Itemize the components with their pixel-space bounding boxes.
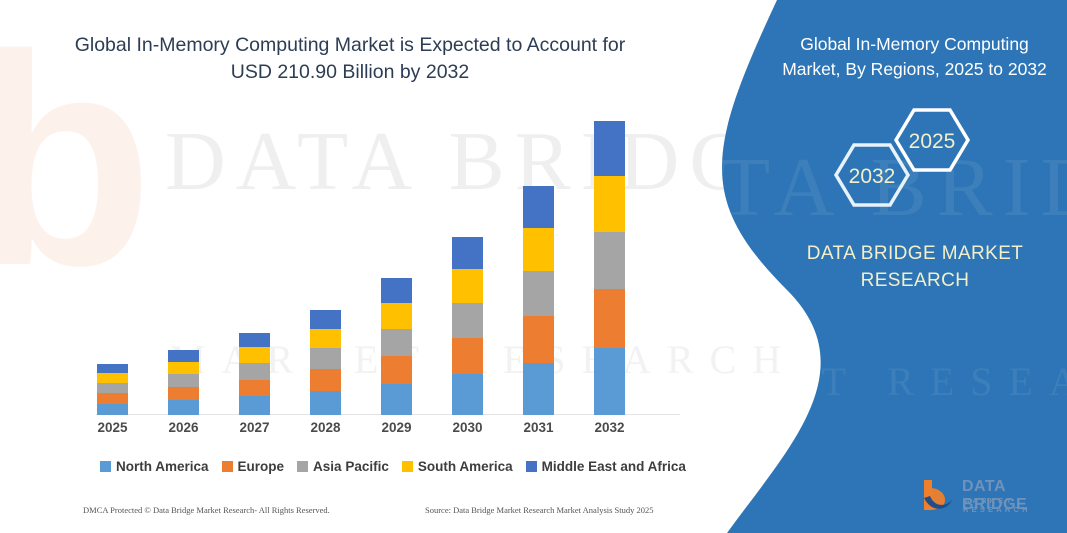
bar-segment-asia-pacific <box>310 348 341 369</box>
x-axis-labels: 20252026202720282029203020312032 <box>80 420 680 442</box>
legend-label: South America <box>418 459 513 474</box>
bar-segment-middle-east-and-africa <box>168 350 199 361</box>
bar-segment-north-america <box>452 374 483 415</box>
bar-segment-europe <box>594 289 625 348</box>
legend-swatch-icon <box>222 461 233 472</box>
bar-segment-asia-pacific <box>381 329 412 356</box>
bar-segment-north-america <box>594 348 625 415</box>
bar-group <box>594 121 625 415</box>
bar-segment-asia-pacific <box>523 271 554 316</box>
bar-segment-north-america <box>168 400 199 415</box>
legend-item[interactable]: Asia Pacific <box>297 459 389 474</box>
bar-segment-europe <box>523 316 554 363</box>
svg-text:MARKET RESEARCH: MARKET RESEARCH <box>667 359 1067 404</box>
x-axis-label: 2025 <box>83 420 143 435</box>
x-axis-label: 2026 <box>154 420 214 435</box>
legend-swatch-icon <box>526 461 537 472</box>
legend-label: Europe <box>238 459 285 474</box>
dbmr-logo: DATA BRIDGE MARKET RESEARCH <box>918 476 1058 518</box>
legend-swatch-icon <box>100 461 111 472</box>
bar-segment-europe <box>452 338 483 374</box>
bar-segment-asia-pacific <box>452 303 483 338</box>
chart-legend: North AmericaEuropeAsia PacificSouth Ame… <box>100 456 680 476</box>
svg-text:2032: 2032 <box>849 165 896 188</box>
bar-segment-south-america <box>523 228 554 272</box>
legend-item[interactable]: Europe <box>222 459 285 474</box>
x-axis-label: 2028 <box>296 420 356 435</box>
bar-segment-middle-east-and-africa <box>310 310 341 329</box>
legend-label: North America <box>116 459 209 474</box>
bar-group <box>452 237 483 415</box>
footer: DMCA Protected © Data Bridge Market Rese… <box>0 505 690 525</box>
bar-segment-north-america <box>239 396 270 415</box>
footer-copyright: DMCA Protected © Data Bridge Market Rese… <box>83 505 330 515</box>
bar-segment-europe <box>97 393 128 403</box>
bar-segment-north-america <box>97 404 128 415</box>
bar-segment-europe <box>168 387 199 401</box>
hexagon-badges: 2032 2025 <box>818 100 998 215</box>
bar-segment-middle-east-and-africa <box>452 237 483 269</box>
bar-group <box>381 278 412 415</box>
bar-segment-south-america <box>97 373 128 382</box>
bar-segment-south-america <box>310 329 341 349</box>
bar-segment-middle-east-and-africa <box>523 186 554 228</box>
bar-segment-north-america <box>523 363 554 415</box>
bar-segment-europe <box>310 369 341 391</box>
bar-segment-europe <box>381 356 412 384</box>
bar-segment-north-america <box>381 384 412 415</box>
bar-segment-middle-east-and-africa <box>594 121 625 175</box>
bar-segment-south-america <box>452 269 483 302</box>
legend-item[interactable]: Middle East and Africa <box>526 459 686 474</box>
svg-text:2025: 2025 <box>909 130 956 153</box>
x-axis-label: 2030 <box>438 420 498 435</box>
legend-swatch-icon <box>297 461 308 472</box>
x-axis-label: 2029 <box>367 420 427 435</box>
x-axis-label: 2031 <box>509 420 569 435</box>
x-axis-label: 2027 <box>225 420 285 435</box>
bar-segment-south-america <box>239 347 270 363</box>
brand-name: DATA BRIDGE MARKET RESEARCH <box>790 240 1040 294</box>
bar-segment-south-america <box>168 362 199 374</box>
logo-text-secondary: MARKET RESEARCH <box>963 496 1058 514</box>
legend-label: Asia Pacific <box>313 459 389 474</box>
bar-segment-north-america <box>310 391 341 415</box>
bar-segment-europe <box>239 380 270 397</box>
bar-segment-asia-pacific <box>594 232 625 289</box>
chart-plot-area <box>80 113 680 415</box>
footer-source: Source: Data Bridge Market Research Mark… <box>425 505 654 515</box>
legend-item[interactable]: North America <box>100 459 209 474</box>
x-axis-label: 2032 <box>580 420 640 435</box>
stacked-bar-chart <box>80 110 680 415</box>
bar-segment-south-america <box>381 303 412 329</box>
right-panel-title: Global In-Memory Computing Market, By Re… <box>772 32 1057 82</box>
bar-segment-middle-east-and-africa <box>239 333 270 348</box>
infographic-canvas: b DATA BRIDGE MARKET RESEARCH Global In-… <box>0 0 1067 533</box>
bar-segment-middle-east-and-africa <box>381 278 412 303</box>
bar-segment-south-america <box>594 176 625 232</box>
legend-label: Middle East and Africa <box>542 459 686 474</box>
bar-group <box>168 350 199 415</box>
bar-group <box>97 364 128 415</box>
page-title: Global In-Memory Computing Market is Exp… <box>60 32 640 86</box>
legend-item[interactable]: South America <box>402 459 513 474</box>
bar-segment-asia-pacific <box>168 374 199 386</box>
bar-group <box>239 333 270 415</box>
bar-group <box>310 310 341 415</box>
bar-group <box>523 186 554 415</box>
bar-segment-middle-east-and-africa <box>97 364 128 373</box>
bar-segment-asia-pacific <box>239 363 270 380</box>
bar-segment-asia-pacific <box>97 383 128 393</box>
legend-swatch-icon <box>402 461 413 472</box>
